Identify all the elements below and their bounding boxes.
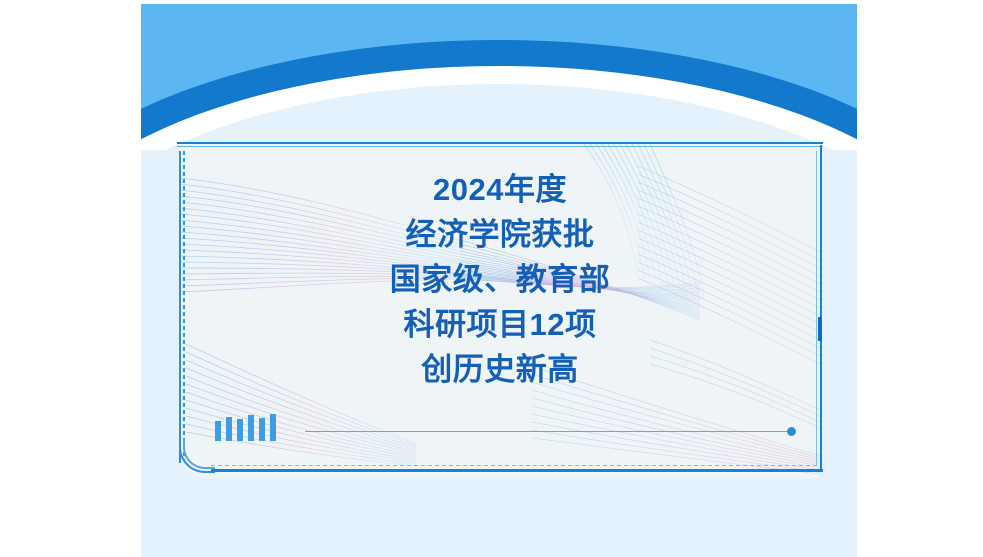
title-line-1: 2024年度 (177, 167, 823, 212)
title-line-4: 科研项目12项 (177, 302, 823, 347)
title-line-2: 经济学院获批 (177, 212, 823, 257)
letterbox-left (0, 0, 141, 557)
frame-bottom-line-dashed (211, 465, 821, 466)
slide-title: 2024年度 经济学院获批 国家级、教育部 科研项目12项 创历史新高 (177, 167, 823, 392)
deco-bar (259, 418, 265, 441)
deco-bar (215, 421, 221, 441)
deco-bar (226, 417, 232, 441)
title-line-5: 创历史新高 (177, 347, 823, 392)
frame-top-line-inner (177, 146, 823, 147)
screenshot-canvas: 2024年度 经济学院获批 国家级、教育部 科研项目12项 创历史新高 (0, 0, 983, 557)
deco-bar (270, 414, 276, 441)
deco-bar (248, 415, 254, 441)
horizontal-rule-decoration (305, 431, 792, 432)
letterbox-right (857, 0, 983, 557)
bar-group-decoration (215, 413, 276, 441)
presentation-slide: 2024年度 经济学院获批 国家级、教育部 科研项目12项 创历史新高 (141, 0, 857, 557)
rule-end-dot-marker (787, 427, 796, 436)
title-line-3: 国家级、教育部 (177, 257, 823, 302)
content-frame-panel: 2024年度 经济学院获批 国家级、教育部 科研项目12项 创历史新高 (177, 139, 823, 481)
frame-top-line-outer (177, 142, 823, 144)
frame-bottom-line-solid (211, 469, 823, 472)
top-white-strip (141, 0, 857, 4)
deco-bar (237, 419, 243, 441)
